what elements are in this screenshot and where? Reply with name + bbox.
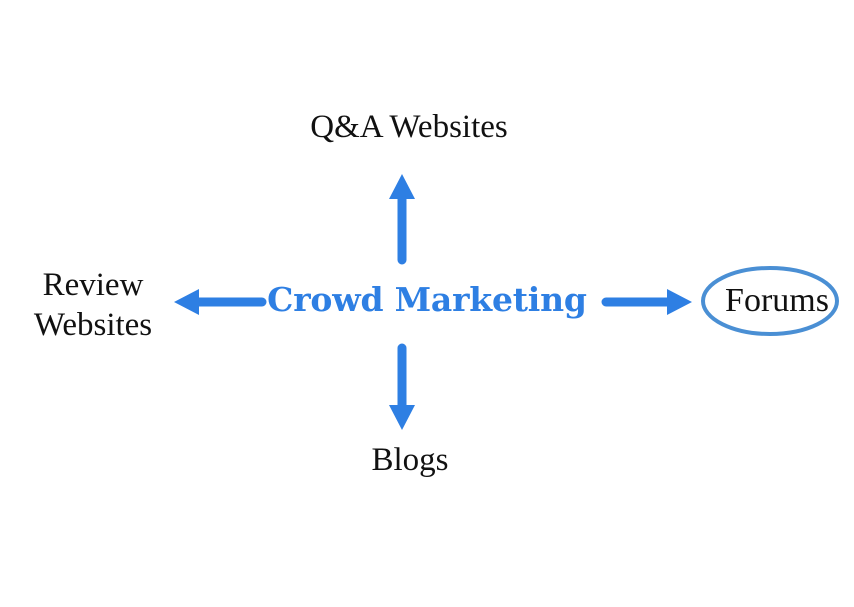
- node-label-qa-websites: Q&A Websites: [259, 108, 559, 146]
- arrow-left-icon: [172, 286, 268, 318]
- node-label-blogs: Blogs: [310, 441, 510, 479]
- node-forums: Forums: [700, 264, 854, 338]
- arrow-right-icon: [600, 286, 696, 318]
- node-label-forums: Forums: [700, 281, 854, 321]
- node-label-review-websites-line2: Websites: [0, 305, 186, 345]
- diagram-canvas: Crowd Marketing Q&A Websites Blogs Revie…: [0, 0, 854, 607]
- arrow-up-icon: [386, 172, 418, 266]
- node-label-review-websites-line1: Review: [0, 265, 186, 305]
- node-label-review-websites: Review Websites: [0, 265, 186, 345]
- arrow-down-icon: [386, 342, 418, 432]
